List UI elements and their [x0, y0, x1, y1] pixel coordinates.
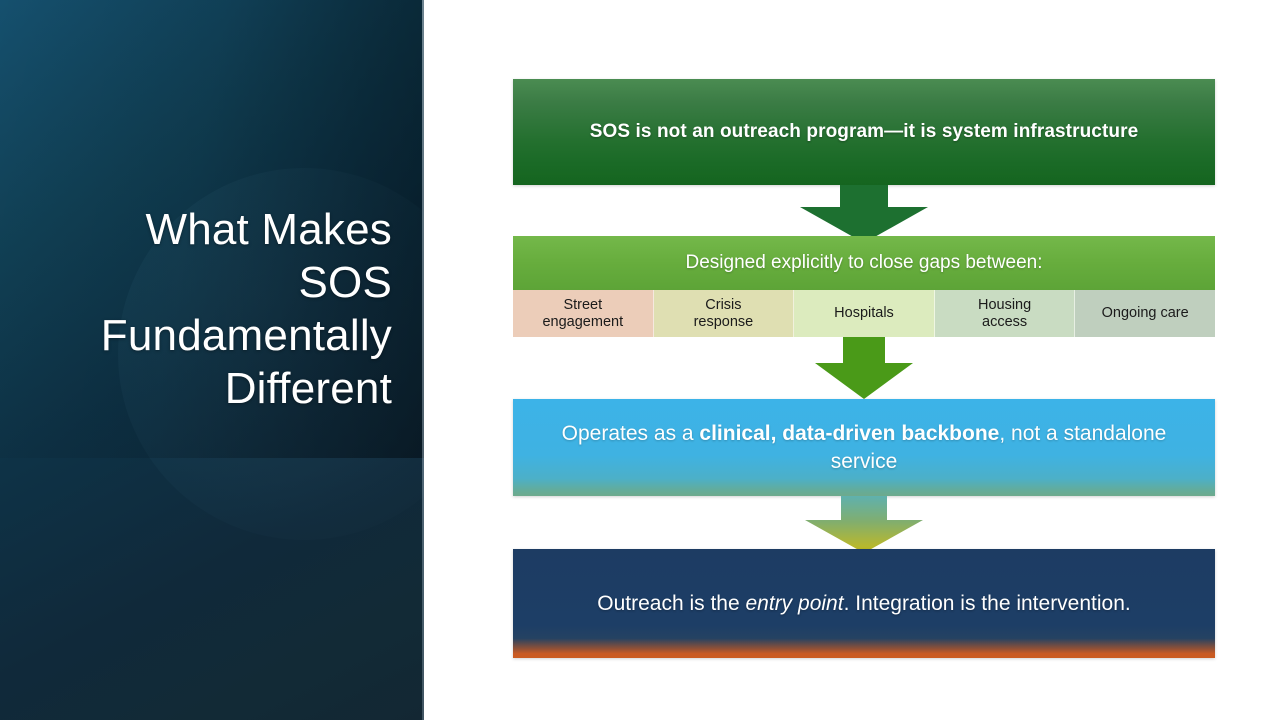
gap-chip-label: Housing access: [978, 297, 1031, 331]
gap-chip-hospitals: Hospitals: [794, 290, 935, 337]
flow-step-2-group: Designed explicitly to close gaps betwee…: [513, 236, 1215, 337]
panel-edge-divider: [422, 0, 424, 720]
flow-step-3-prefix: Operates as a: [562, 422, 700, 445]
gap-chip-label: Crisis response: [694, 297, 754, 331]
flow-step-3-banner: Operates as a clinical, data-driven back…: [513, 399, 1215, 496]
slide-title: What Makes SOS Fundamentally Different: [20, 203, 392, 415]
title-panel: What Makes SOS Fundamentally Different: [0, 0, 424, 720]
gap-chip-row: Street engagement Crisis response Hospit…: [513, 290, 1215, 337]
flow-step-1-banner: SOS is not an outreach program—it is sys…: [513, 79, 1215, 185]
arrow-down-1-icon: [800, 185, 928, 243]
slide: What Makes SOS Fundamentally Different S…: [0, 0, 1280, 720]
gap-chip-label: Hospitals: [834, 305, 894, 322]
flow-step-2-header-text: Designed explicitly to close gaps betwee…: [686, 252, 1043, 274]
gap-chip-label: Ongoing care: [1102, 305, 1189, 322]
flow-step-3-bold: clinical, data-driven backbone: [699, 422, 999, 445]
gap-chip-label: Street engagement: [542, 297, 623, 331]
flow-step-4-italic: entry point: [746, 592, 844, 615]
gap-chip-street-engagement: Street engagement: [513, 290, 654, 337]
flow-step-1-text: SOS is not an outreach program—it is sys…: [590, 121, 1139, 143]
gap-chip-housing-access: Housing access: [935, 290, 1076, 337]
flow-step-4-banner: Outreach is the entry point. Integration…: [513, 549, 1215, 658]
arrow-down-2-icon: [815, 337, 913, 399]
flow-step-4-prefix: Outreach is the: [597, 592, 745, 615]
flow-step-4-suffix: . Integration is the intervention.: [844, 592, 1131, 615]
gap-chip-crisis-response: Crisis response: [654, 290, 795, 337]
arrow-down-3-icon: [805, 496, 923, 553]
gap-chip-ongoing-care: Ongoing care: [1075, 290, 1215, 337]
flow-step-2-header: Designed explicitly to close gaps betwee…: [513, 236, 1215, 290]
flow-diagram: SOS is not an outreach program—it is sys…: [513, 0, 1215, 720]
